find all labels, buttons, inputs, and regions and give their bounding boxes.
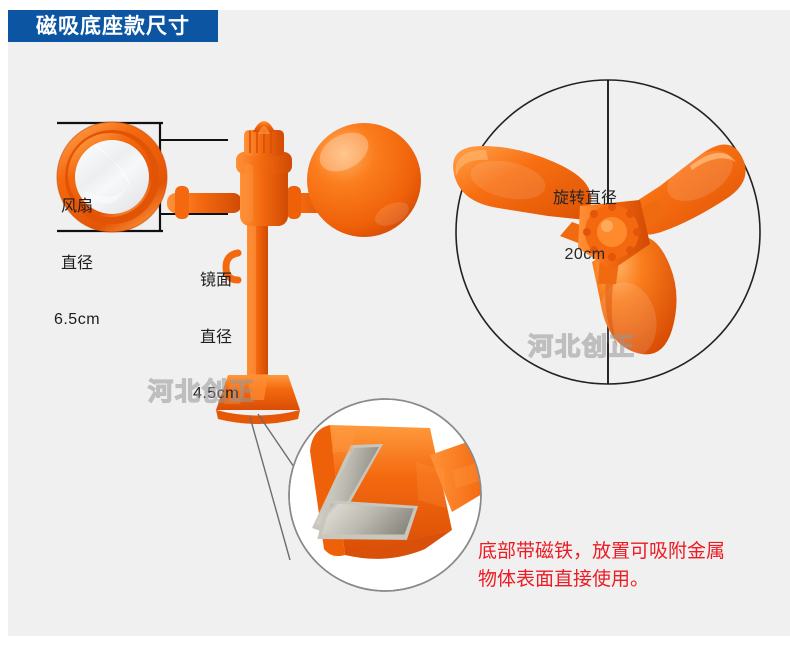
fan-diameter-label: 风扇 直径 6.5cm	[44, 158, 110, 367]
central-hub	[236, 121, 292, 226]
rotation-diameter-label: 旋转直径 20cm	[525, 150, 645, 302]
mirror-diameter-line2: 直径	[183, 327, 249, 346]
right-arm-collar	[287, 186, 301, 219]
fan-diameter-value: 6.5cm	[44, 310, 110, 329]
rotation-diameter-line1: 旋转直径	[525, 188, 645, 207]
product-spec-page: 磁吸底座款尺寸	[0, 0, 790, 666]
counterweight-sphere	[307, 123, 421, 237]
magnet-note-line1: 底部带磁铁，放置可吸附金属	[478, 537, 778, 565]
magnet-note: 底部带磁铁，放置可吸附金属 物体表面直接使用。	[478, 537, 778, 593]
mirror-diameter-value: 4.5cm	[183, 384, 249, 403]
left-arm-collar	[175, 186, 189, 219]
rotation-diameter-value: 20cm	[525, 245, 645, 264]
fan-diameter-line1: 风扇	[44, 196, 110, 215]
mirror-diameter-line1: 镜面	[183, 270, 249, 289]
fan-diameter-line2: 直径	[44, 253, 110, 272]
mirror-diameter-label: 镜面 直径 4.5cm	[183, 232, 249, 441]
magnet-note-line2: 物体表面直接使用。	[478, 565, 778, 593]
